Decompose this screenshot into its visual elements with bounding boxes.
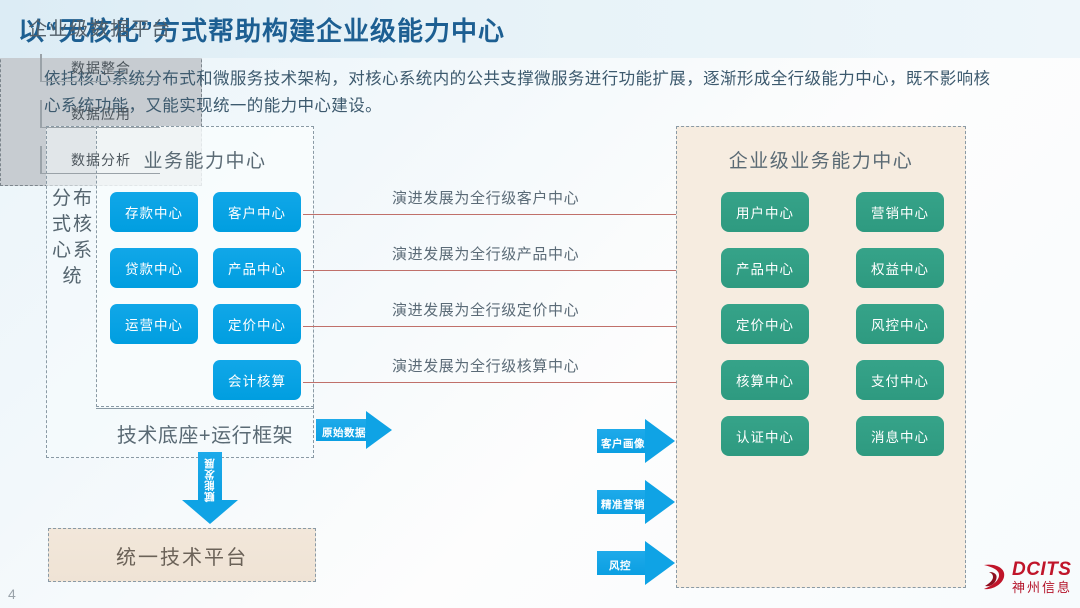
- green-box-payment-center[interactable]: 支付中心: [856, 360, 944, 400]
- evolution-line-pricing: [303, 326, 718, 327]
- dcits-logo-text: DCITS 神州信息: [1012, 560, 1072, 594]
- dcits-logo-mark: [981, 562, 1007, 592]
- blue-box-deposit-center[interactable]: 存款中心: [110, 192, 198, 232]
- unified-tech-platform-label: 统一技术平台: [49, 529, 315, 581]
- evolution-line-customer: [303, 214, 718, 215]
- evolution-line-accounting: [303, 382, 718, 383]
- precision-marketing-arrow-label: 精准营销: [601, 497, 645, 512]
- blue-box-operation-center[interactable]: 运营中心: [110, 304, 198, 344]
- evolution-label-accounting: 演进发展为全行级核算中心: [392, 355, 579, 376]
- page-subtitle: 依托核心系统分布式和微服务技术架构，对核心系统内的公共支撑微服务进行功能扩展，逐…: [44, 66, 1004, 120]
- dcits-logo-en: DCITS: [1012, 560, 1072, 579]
- customer-profile-arrow: 客户画像: [597, 419, 677, 463]
- green-box-message-center[interactable]: 消息中心: [856, 416, 944, 456]
- empower-development-arrow-label: 赋能发展: [202, 456, 217, 502]
- blue-box-pricing-center[interactable]: 定价中心: [213, 304, 301, 344]
- blue-box-product-center[interactable]: 产品中心: [213, 248, 301, 288]
- evolution-label-pricing: 演进发展为全行级定价中心: [392, 299, 579, 320]
- blue-box-loan-center[interactable]: 贷款中心: [110, 248, 198, 288]
- blue-box-accounting[interactable]: 会计核算: [213, 360, 301, 400]
- evolution-line-product: [303, 270, 718, 271]
- enterprise-capability-center-title: 企业级业务能力中心: [676, 146, 966, 173]
- green-box-product-center[interactable]: 产品中心: [721, 248, 809, 288]
- unified-tech-platform-frame: 统一技术平台: [48, 528, 316, 582]
- empower-development-arrow: 赋能发展: [182, 452, 238, 524]
- tech-base-bar: 技术底座+运行框架: [96, 408, 314, 458]
- page-number: 4: [8, 586, 16, 602]
- green-box-rights-center[interactable]: 权益中心: [856, 248, 944, 288]
- green-box-marketing-center[interactable]: 营销中心: [856, 192, 944, 232]
- data-platform-item-analysis[interactable]: 数据分析: [40, 146, 160, 174]
- evolution-label-product: 演进发展为全行级产品中心: [392, 243, 579, 264]
- customer-profile-arrow-label: 客户画像: [601, 436, 645, 451]
- green-box-auth-center[interactable]: 认证中心: [721, 416, 809, 456]
- data-platform-title: 企业级数据平台: [0, 14, 200, 41]
- distributed-core-system-label: 分布式核心系统: [52, 186, 94, 290]
- data-platform-item-application[interactable]: 数据应用: [40, 100, 160, 128]
- raw-data-arrow: 原始数据: [316, 411, 392, 449]
- risk-control-arrow: 风控: [597, 541, 677, 585]
- green-box-accounting-center[interactable]: 核算中心: [721, 360, 809, 400]
- blue-box-customer-center[interactable]: 客户中心: [213, 192, 301, 232]
- data-platform-item-integration[interactable]: 数据整合: [40, 54, 160, 82]
- green-box-pricing-center[interactable]: 定价中心: [721, 304, 809, 344]
- dcits-logo: DCITS 神州信息: [981, 560, 1072, 594]
- dcits-logo-cn: 神州信息: [1012, 581, 1072, 594]
- precision-marketing-arrow: 精准营销: [597, 480, 677, 524]
- green-box-user-center[interactable]: 用户中心: [721, 192, 809, 232]
- evolution-label-customer: 演进发展为全行级客户中心: [392, 187, 579, 208]
- green-box-riskcontrol-center[interactable]: 风控中心: [856, 304, 944, 344]
- risk-control-arrow-label: 风控: [609, 558, 631, 573]
- slide-canvas: 以“无核化”方式帮助构建企业级能力中心 依托核心系统分布式和微服务技术架构，对核…: [0, 0, 1080, 608]
- raw-data-arrow-label: 原始数据: [322, 425, 366, 440]
